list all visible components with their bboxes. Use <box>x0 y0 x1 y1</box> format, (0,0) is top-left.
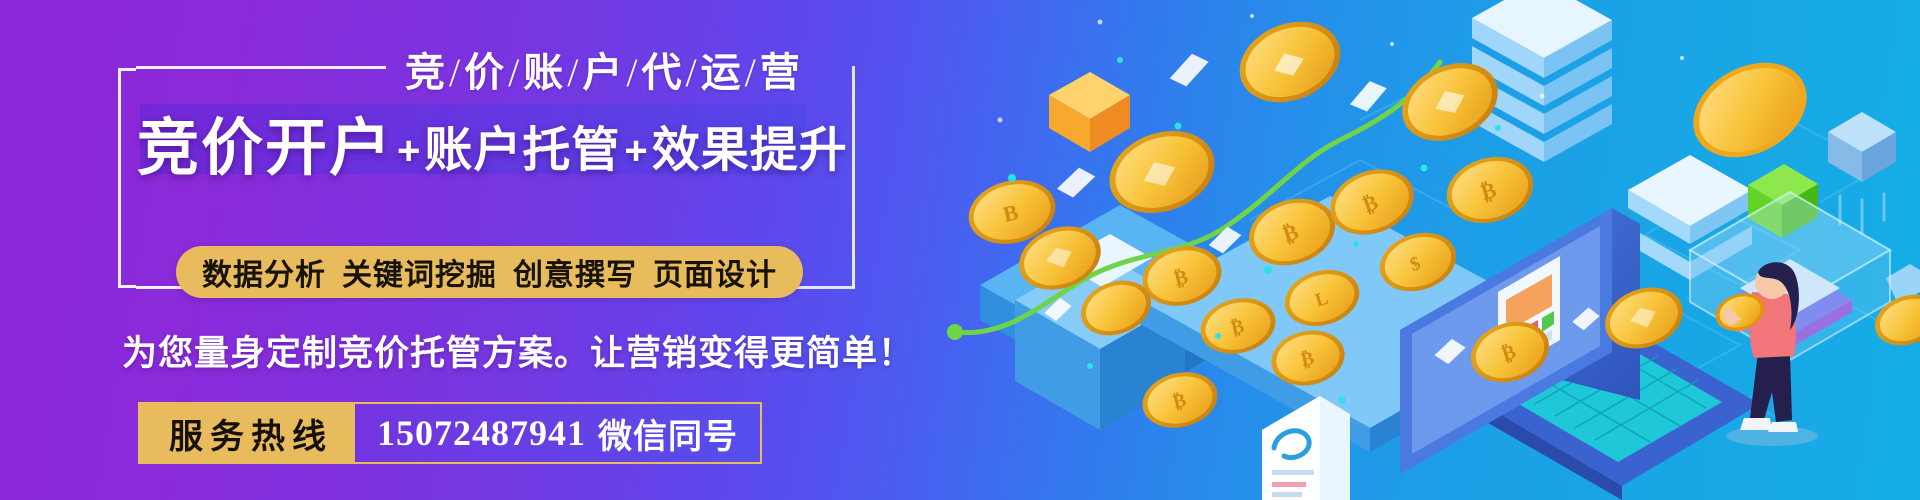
feature-item-4: 页面设计 <box>653 259 777 292</box>
eyebrow-char-2: 价 <box>464 50 505 95</box>
svg-text:B: B <box>1000 199 1021 227</box>
eyebrow-sep-6: / <box>742 50 760 95</box>
svg-text:₿: ₿ <box>1499 341 1518 366</box>
eyebrow-char-1: 竞 <box>405 50 446 95</box>
headline-part-3: 效果提升 <box>652 124 848 177</box>
floating-cube-b <box>1886 264 1920 304</box>
eyebrow-char-3: 账 <box>523 50 564 95</box>
promo-banner: B ₿ ₿ ₿ <box>0 0 1920 500</box>
headline: 竞价开户+账户托管+效果提升 <box>137 97 848 187</box>
headline-part-2: 账户托管 <box>424 124 620 177</box>
svg-text:₿: ₿ <box>1171 390 1189 414</box>
decor-bracket-right <box>852 66 855 288</box>
svg-text:₿: ₿ <box>1478 177 1499 205</box>
feature-item-1: 数据分析 <box>202 259 326 292</box>
svg-text:L: L <box>1313 288 1331 312</box>
coin-cluster: B ₿ ₿ ₿ <box>962 7 1920 435</box>
eyebrow-sep-2: / <box>505 50 523 95</box>
sparkle-dots-white <box>998 14 1685 123</box>
eyebrow-char-5: 代 <box>642 50 683 95</box>
green-cube <box>1748 164 1818 238</box>
svg-text:₿: ₿ <box>1280 219 1302 247</box>
feature-item-3: 创意撰写 <box>513 259 637 292</box>
person-figure <box>1711 262 1818 446</box>
laptop <box>1400 208 1760 500</box>
eyebrow-char-6: 运 <box>701 50 742 95</box>
feature-pill: 数据分析关键词挖掘创意撰写页面设计 <box>176 246 803 298</box>
decor-rule-top <box>136 66 386 69</box>
hotline-number: 15072487941 <box>377 412 586 454</box>
hotline-bar: 服务热线 15072487941微信同号 <box>138 402 762 464</box>
decor-rule-bottom-right <box>790 286 855 289</box>
glass-box <box>1690 192 1890 360</box>
headline-plus-2: + <box>620 129 651 173</box>
decor-bracket-left <box>118 68 136 288</box>
iso-pedestal <box>1015 234 1185 430</box>
eyebrow-sep-1: / <box>446 50 464 95</box>
svg-text:₿: ₿ <box>1229 316 1247 340</box>
feature-pill-text: 数据分析关键词挖掘创意撰写页面设计 <box>202 250 777 294</box>
tagline: 为您量身定制竞价托管方案。让营销变得更简单！ <box>122 325 914 376</box>
headline-plus-1: + <box>393 129 424 173</box>
headline-part-1: 竞价开户 <box>137 114 393 183</box>
hotline-note: 微信同号 <box>586 409 738 458</box>
eyebrow-text: 竞/价/账/户/代/运/营 <box>405 40 801 98</box>
copy-block: 竞/价/账/户/代/运/营 竞价开户+账户托管+效果提升 数据分析关键词挖掘创意… <box>0 0 900 500</box>
iso-slab-stack <box>1628 155 1752 280</box>
eyebrow-char-7: 营 <box>760 50 801 95</box>
iso-platform-left <box>980 205 1270 405</box>
eyebrow-sep-4: / <box>623 50 641 95</box>
growth-curve <box>955 62 1440 333</box>
eyebrow-sep-5: / <box>683 50 701 95</box>
iso-platform-center <box>1140 196 1560 452</box>
eyebrow-sep-3: / <box>564 50 582 95</box>
hotline-value: 15072487941微信同号 <box>355 404 760 462</box>
hotline-label: 服务热线 <box>140 404 355 462</box>
svg-text:$: $ <box>1408 253 1424 276</box>
growth-curve-dot <box>947 324 963 340</box>
eyebrow-char-4: 户 <box>582 50 623 95</box>
feature-item-2: 关键词挖掘 <box>342 259 497 292</box>
hero-coin <box>1677 44 1823 176</box>
phone-card <box>1262 396 1350 500</box>
svg-text:₿: ₿ <box>1299 348 1316 371</box>
orange-cube <box>1049 72 1130 152</box>
svg-text:₿: ₿ <box>1172 266 1190 291</box>
floating-cube-a <box>1828 112 1896 234</box>
iso-tower-stack <box>1472 0 1612 162</box>
sparkle-dots <box>1008 57 1501 404</box>
svg-text:₿: ₿ <box>1360 190 1381 217</box>
